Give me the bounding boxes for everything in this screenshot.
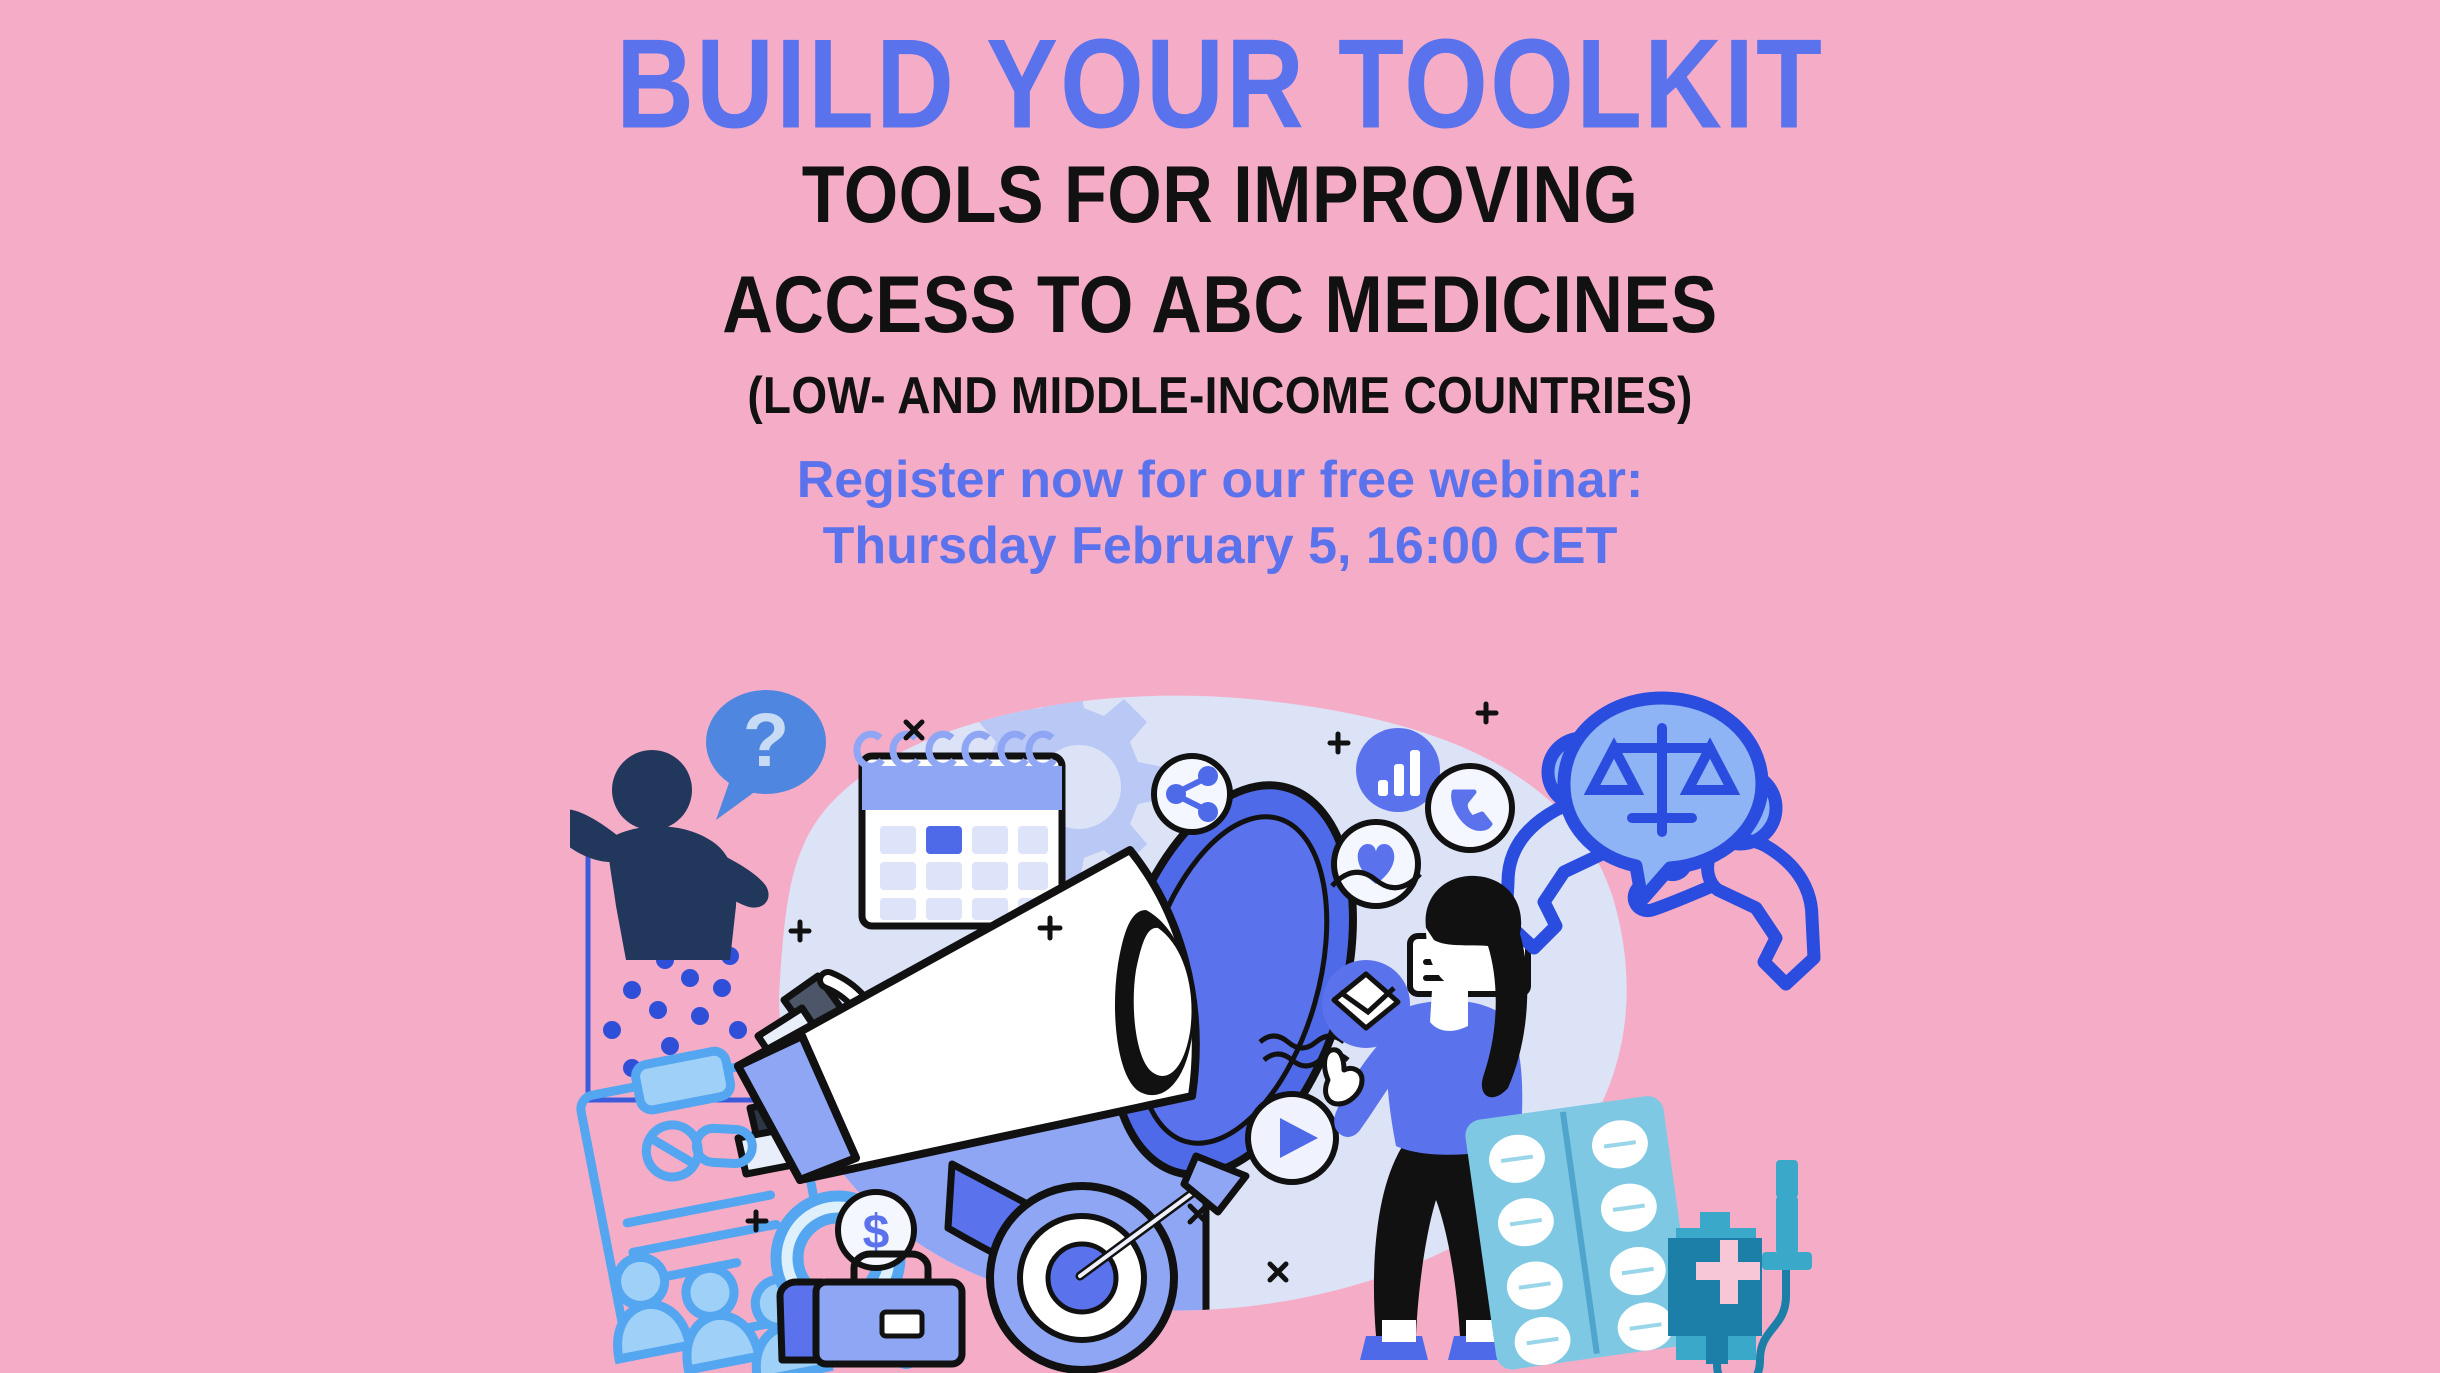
cta-line-2: Thursday February 5, 16:00 CET: [0, 517, 2440, 575]
illustration-canvas: ?: [570, 660, 1870, 1373]
syringe-icon: [1762, 1160, 1812, 1270]
svg-text:?: ?: [743, 698, 789, 783]
question-bubble-icon: ?: [706, 690, 826, 820]
share-icon: [1154, 756, 1230, 832]
pill-blister-pack-icon: [1463, 1094, 1696, 1371]
text-block: BUILD YOUR TOOLKIT TOOLS FOR IMPROVING A…: [0, 0, 2440, 576]
page-title: BUILD YOUR TOOLKIT: [0, 18, 2440, 151]
iv-bag-icon: [1668, 1212, 1786, 1373]
heart-icon: [1334, 822, 1418, 906]
cta-line-1: Register now for our free webinar:: [0, 451, 2440, 509]
subtitle-line-1: TOOLS FOR IMPROVING: [0, 152, 2440, 239]
play-button-icon: [1248, 1094, 1336, 1182]
subtitle-line-3: (LOW- AND MIDDLE-INCOME COUNTRIES): [0, 368, 2440, 424]
illustration: ?: [0, 660, 2440, 1373]
subtitle-line-2: ACCESS TO ABC MEDICINES: [0, 262, 2440, 349]
poster-canvas: BUILD YOUR TOOLKIT TOOLS FOR IMPROVING A…: [0, 0, 2440, 1373]
phone-icon: [1428, 766, 1512, 850]
calendar-icon: [857, 734, 1062, 926]
